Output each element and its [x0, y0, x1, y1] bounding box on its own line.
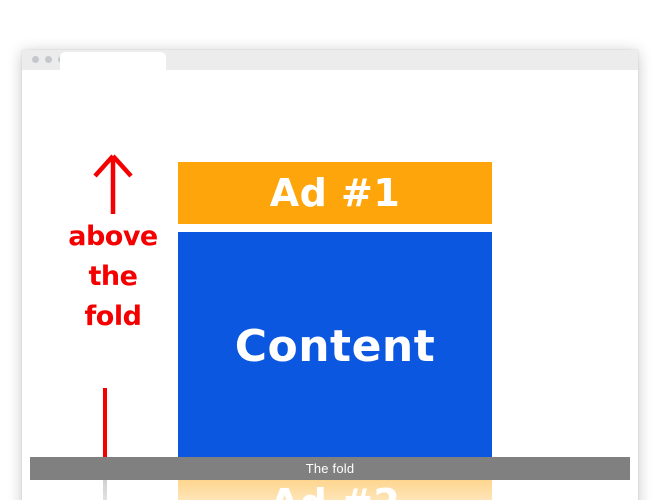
minimize-window-dot-icon[interactable]	[45, 56, 52, 63]
diagram-canvas: Ad #2 above the fold Ad #1 Content The	[0, 0, 660, 500]
above-the-fold-annotation: above the fold	[58, 150, 168, 336]
content-block: Content	[178, 232, 492, 460]
browser-tab[interactable]	[60, 52, 166, 70]
annotation-line-2: the	[58, 258, 168, 296]
browser-chrome	[22, 50, 638, 70]
browser-window-mockup: Ad #2 above the fold Ad #1 Content The	[22, 50, 638, 500]
annotation-line-1: above	[58, 218, 168, 256]
ad-block-1: Ad #1	[178, 162, 492, 224]
the-fold-bar: The fold	[30, 457, 630, 480]
the-fold-label: The fold	[306, 461, 355, 476]
close-window-dot-icon[interactable]	[32, 56, 39, 63]
up-arrow-icon	[91, 150, 135, 216]
annotation-line-3: fold	[58, 298, 168, 336]
browser-viewport: Ad #2 above the fold Ad #1 Content The	[22, 70, 638, 500]
